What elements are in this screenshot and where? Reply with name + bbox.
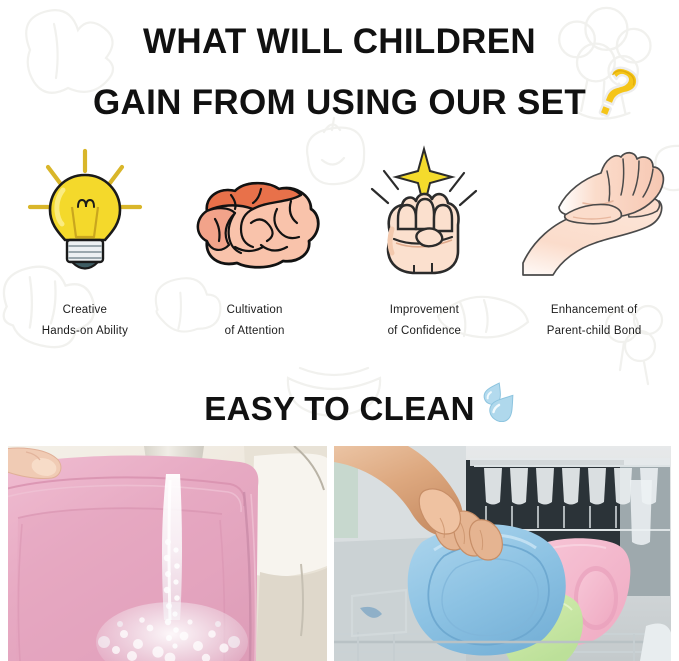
feature-label-line-1: Creative <box>42 300 128 321</box>
feature-label-line-1: Enhancement of <box>547 300 642 321</box>
feature-creative-hands-on-ability: Creative Hands-on Ability <box>0 150 170 340</box>
parent-child-hands-icon <box>519 145 669 290</box>
headline-line-2-wrapper: GAIN FROM USING OUR SET <box>93 85 586 120</box>
feature-art <box>354 150 494 290</box>
headline-line-1: WHAT WILL CHILDREN <box>0 24 679 59</box>
headline-block: WHAT WILL CHILDREN GAIN FROM USING OUR S… <box>0 24 679 120</box>
subheadline-wrapper: EASY TO CLEAN <box>204 390 474 428</box>
raised-fist-icon <box>354 145 494 290</box>
feature-enhancement-of-parent-child-bond: Enhancement of Parent-child Bond <box>509 150 679 340</box>
feature-label: Creative Hands-on Ability <box>42 300 128 343</box>
feature-label-line-2: Parent-child Bond <box>547 321 642 342</box>
feature-label: Cultivation of Attention <box>225 300 285 343</box>
water-droplets-icon <box>481 380 521 422</box>
dishwasher-loading-photo <box>334 446 671 661</box>
infographic-page: WHAT WILL CHILDREN GAIN FROM USING OUR S… <box>0 0 679 661</box>
question-mark-icon <box>592 65 646 123</box>
feature-art <box>185 150 325 290</box>
lightbulb-icon <box>20 145 150 290</box>
feature-cultivation-of-attention: Cultivation of Attention <box>170 150 340 340</box>
feature-art <box>20 150 150 290</box>
feature-label: Enhancement of Parent-child Bond <box>547 300 642 343</box>
feature-art <box>519 150 669 290</box>
features-row: Creative Hands-on Ability <box>0 150 679 340</box>
rinsing-pink-placemat-photo <box>8 446 327 661</box>
feature-label: Improvement of Confidence <box>388 300 462 343</box>
feature-label-line-2: of Confidence <box>388 321 462 342</box>
feature-label-line-2: of Attention <box>225 321 285 342</box>
feature-improvement-of-confidence: Improvement of Confidence <box>340 150 510 340</box>
photo-row <box>0 446 679 661</box>
feature-label-line-1: Cultivation <box>225 300 285 321</box>
feature-label-line-2: Hands-on Ability <box>42 321 128 342</box>
headline-line-2: GAIN FROM USING OUR SET <box>93 83 586 122</box>
subheadline-text: EASY TO CLEAN <box>204 390 474 427</box>
feature-label-line-1: Improvement <box>388 300 462 321</box>
brain-icon <box>185 145 325 290</box>
subheadline-block: EASY TO CLEAN <box>0 390 679 428</box>
